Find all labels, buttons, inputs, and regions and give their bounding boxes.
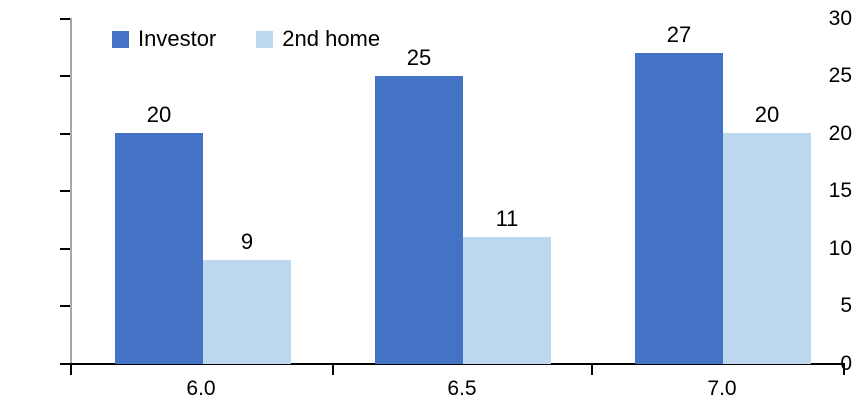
x-tick-div-2 <box>591 365 593 375</box>
y-tick-label-5: 5 <box>806 295 852 316</box>
y-tick-label-0: 0 <box>806 353 852 374</box>
x-category-label-0: 6.0 <box>141 378 261 399</box>
x-category-label-2: 7.0 <box>662 378 782 399</box>
y-tick-label-15: 15 <box>806 180 852 201</box>
bar-value-label-second-home-7-0: 20 <box>723 104 811 126</box>
x-tick-right <box>843 365 845 375</box>
y-tick-10 <box>60 248 70 250</box>
bar-value-label-investor-6-5: 25 <box>375 47 463 69</box>
y-tick-label-20: 20 <box>806 123 852 144</box>
x-category-label-1: 6.5 <box>402 378 522 399</box>
chart-legend: Investor 2nd home <box>112 28 380 50</box>
bar-investor-6-5 <box>375 76 463 364</box>
bar-second-home-7-0 <box>723 133 811 364</box>
y-tick-label-10: 10 <box>806 238 852 259</box>
bar-chart: Investor 2nd home 0 5 10 15 20 25 30 6. <box>0 0 852 410</box>
legend-swatch-icon-second-home <box>256 31 273 48</box>
y-axis-line <box>70 18 72 364</box>
y-tick-25 <box>60 75 70 77</box>
y-tick-label-30: 30 <box>806 8 852 29</box>
bar-value-label-investor-6-0: 20 <box>115 104 203 126</box>
x-tick-left <box>70 365 72 375</box>
bar-value-label-second-home-6-0: 9 <box>203 231 291 253</box>
y-tick-20 <box>60 133 70 135</box>
bar-investor-7-0 <box>635 53 723 364</box>
legend-swatch-icon-investor <box>112 31 129 48</box>
legend-item-second-home: 2nd home <box>256 28 380 50</box>
bar-investor-6-0 <box>115 133 203 364</box>
bar-value-label-investor-7-0: 27 <box>635 24 723 46</box>
bar-second-home-6-5 <box>463 237 551 364</box>
legend-item-investor: Investor <box>112 28 216 50</box>
legend-label-second-home: 2nd home <box>282 28 380 50</box>
y-tick-30 <box>60 18 70 20</box>
y-tick-15 <box>60 190 70 192</box>
legend-label-investor: Investor <box>138 28 216 50</box>
y-tick-0 <box>60 363 70 365</box>
y-tick-label-25: 25 <box>806 65 852 86</box>
x-tick-div-1 <box>332 365 334 375</box>
bar-second-home-6-0 <box>203 260 291 364</box>
bar-value-label-second-home-6-5: 11 <box>463 208 551 230</box>
y-tick-5 <box>60 305 70 307</box>
